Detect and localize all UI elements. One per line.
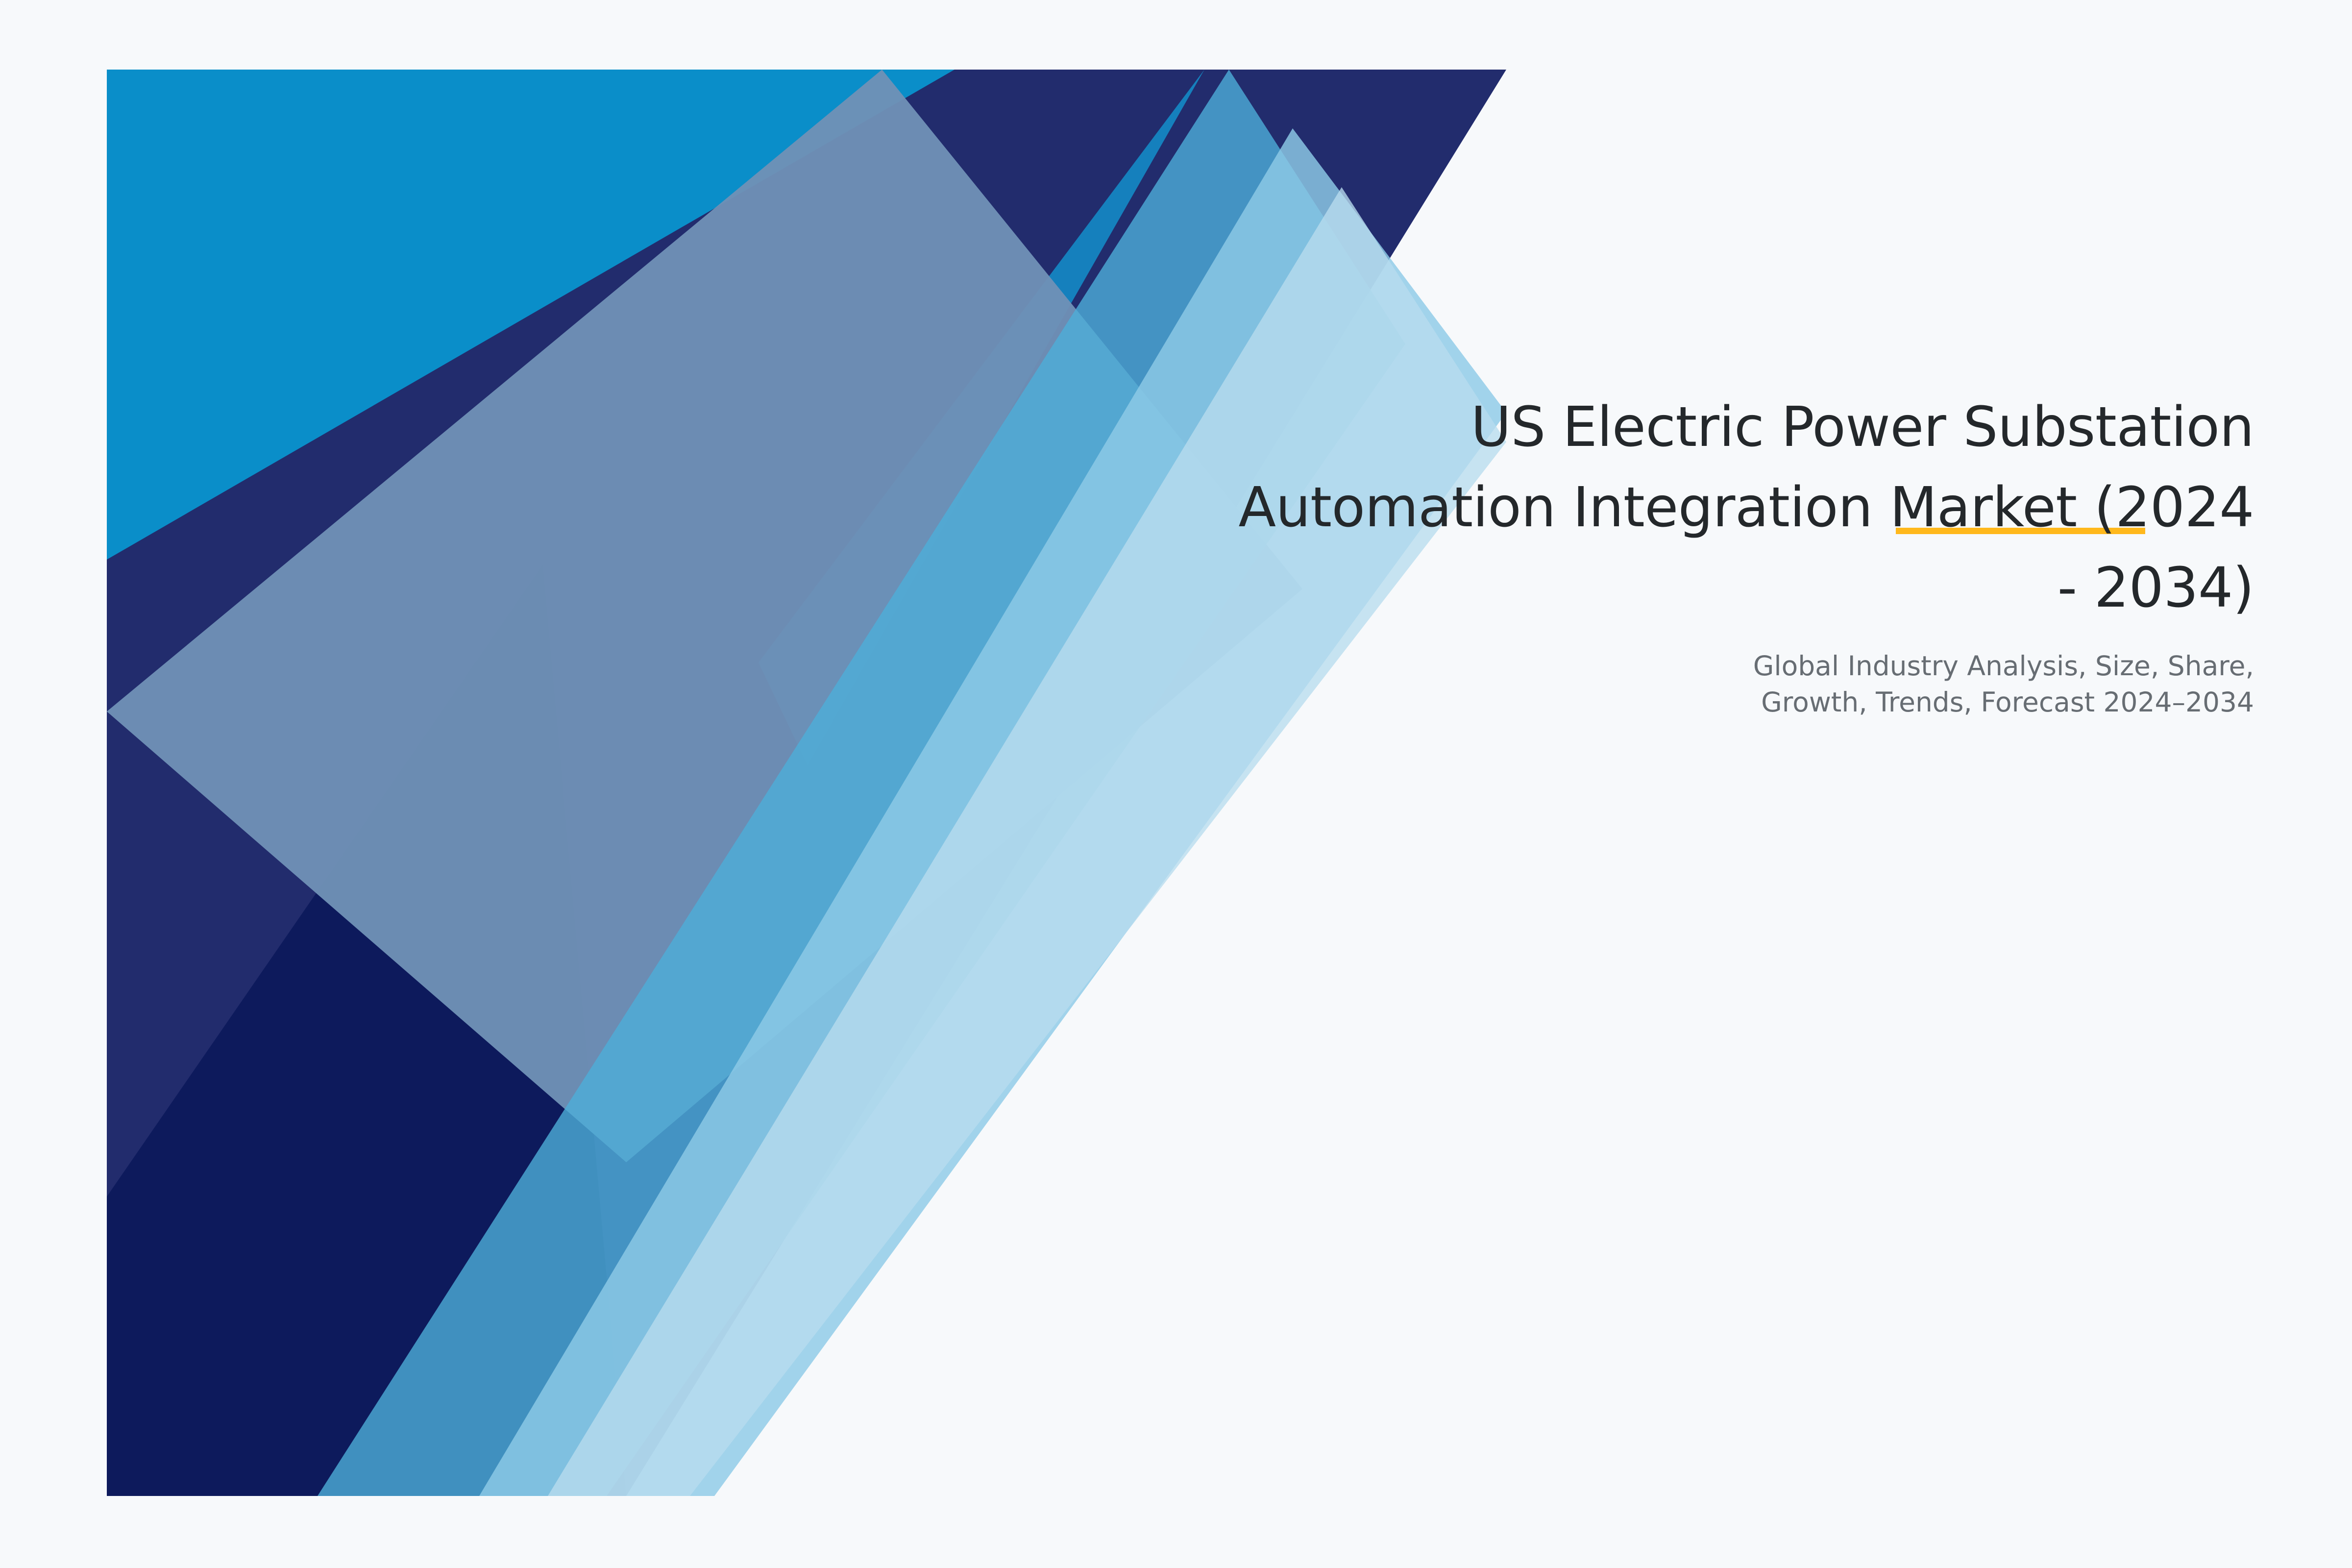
report-cover-page: US Electric Power Substation Automation … [0, 0, 2352, 1568]
title-block: US Electric Power Substation Automation … [833, 387, 2254, 628]
page-title: US Electric Power Substation Automation … [833, 387, 2254, 628]
abstract-geometric-cover-graphic [107, 70, 1506, 1496]
page-subtitle: Global Industry Analysis, Size, Share, G… [1323, 648, 2254, 720]
artwork-svg [107, 70, 1506, 1496]
